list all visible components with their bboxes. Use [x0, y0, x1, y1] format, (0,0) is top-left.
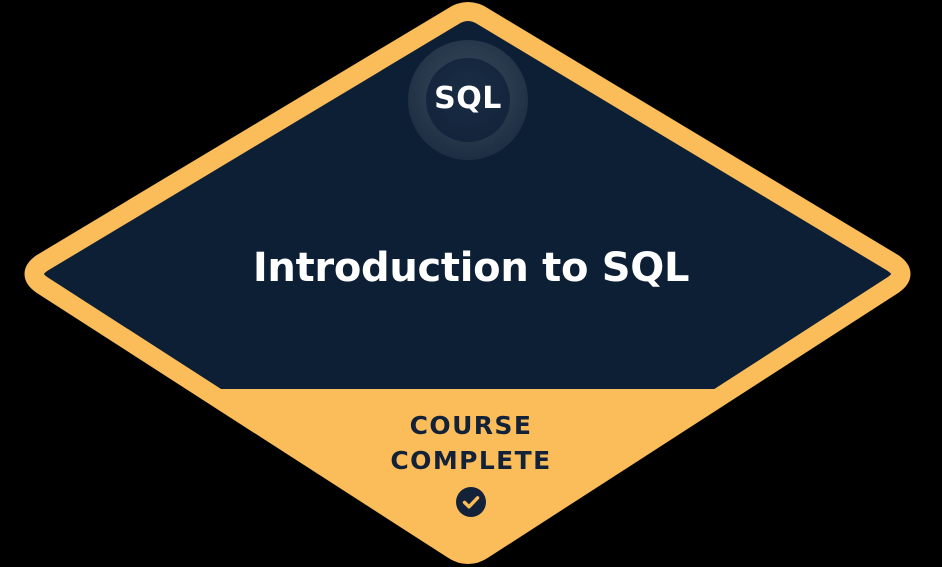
course-status-block: COURSE COMPLETE — [171, 408, 771, 518]
subject-badge[interactable]: SQL — [408, 40, 528, 160]
course-badge-canvas: SQL Introduction to SQL COURSE COMPLETE — [0, 0, 942, 567]
check-circle-icon — [455, 486, 487, 518]
status-badge: COURSE COMPLETE — [171, 408, 771, 478]
subject-badge-label: SQL — [434, 84, 502, 114]
course-title: Introduction to SQL — [60, 246, 882, 291]
